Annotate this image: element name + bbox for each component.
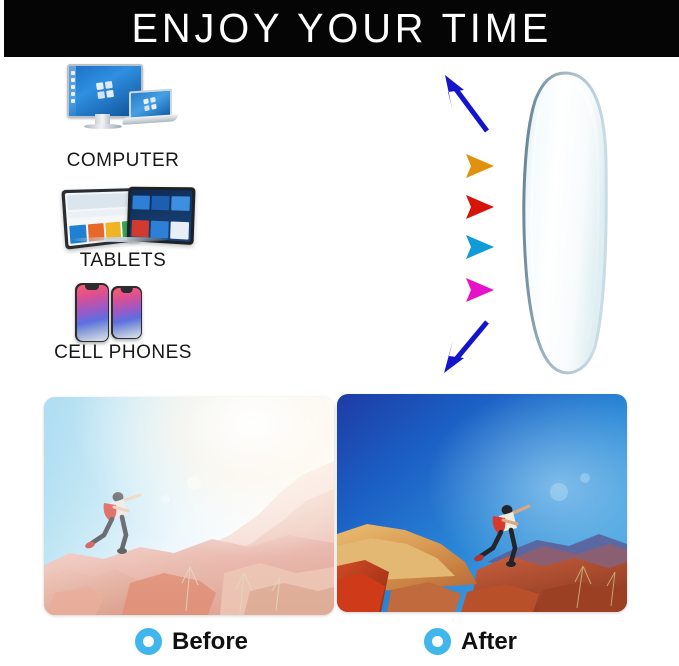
light-ray-blue-reflected-down (222, 322, 488, 373)
product-infographic: ENJOY YOUR TIME (0, 0, 679, 666)
light-ray-magenta (222, 278, 494, 302)
legend-before: Before (135, 628, 248, 655)
light-ray-blue-violet-reflected-up (222, 75, 488, 131)
legend-after: After (424, 628, 517, 655)
photo-before (44, 397, 334, 615)
light-ray-red (222, 195, 494, 219)
eyeglass-lens (519, 71, 609, 377)
bullet-ring-icon (135, 628, 162, 655)
light-ray-cyan (222, 235, 494, 259)
legend-after-label: After (461, 630, 517, 654)
bullet-ring-icon (424, 628, 451, 655)
light-ray-orange (222, 154, 494, 178)
photo-after (337, 394, 627, 612)
legend-before-label: Before (172, 630, 248, 654)
